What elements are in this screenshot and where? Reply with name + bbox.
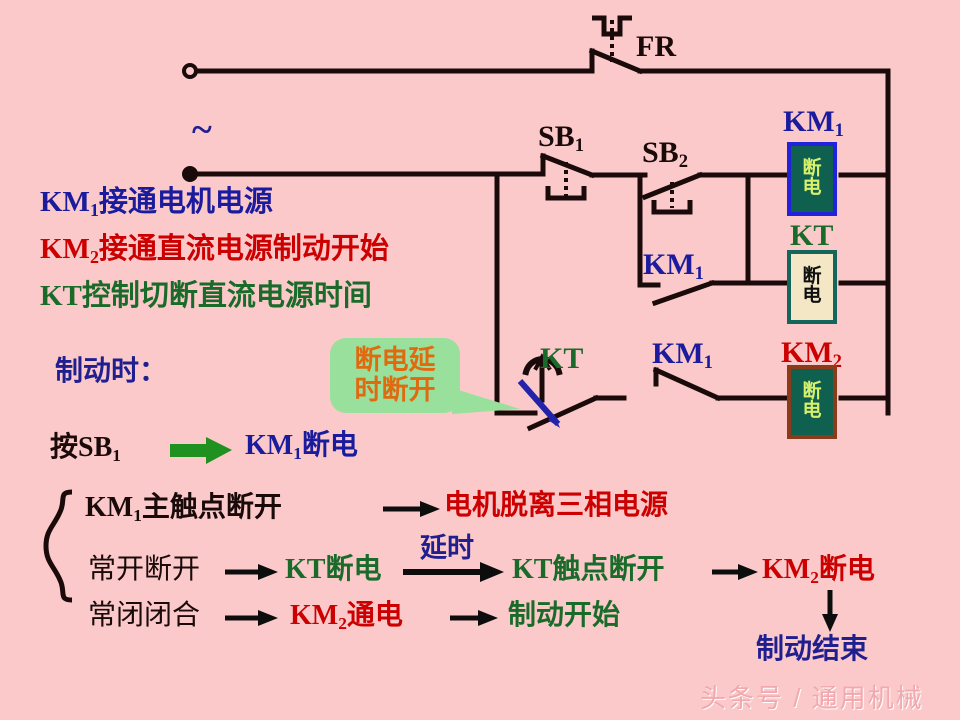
callout-line2: 时断开	[340, 375, 450, 405]
coil-km2-char2: 电	[802, 402, 821, 421]
label-sb2: SB2	[642, 138, 688, 172]
label-km1-holding: KM1	[643, 250, 704, 284]
sequence-row3-mid: KM2通电	[290, 602, 403, 632]
sequence-row2-tail: KM2断电	[762, 556, 875, 586]
green-flow-arrow	[170, 437, 232, 464]
label-km1-nc-contact: KM1	[652, 339, 713, 373]
coil-km1-char2: 电	[802, 179, 821, 198]
sequence-delay-label: 延时	[420, 535, 474, 562]
label-km1-coil: KM1	[783, 107, 844, 141]
label-kt-contact: KT	[540, 344, 583, 374]
sequence-row2-right: KT触点断开	[512, 556, 664, 584]
sequence-brace	[46, 492, 72, 600]
km1-nc-contact-blade	[656, 370, 718, 398]
km1-holding-contact-blade	[655, 283, 712, 303]
legend-line-1: KM1接通电机电源	[40, 188, 273, 219]
coil-box-km2: 断电	[787, 365, 837, 439]
coil-kt-char2: 电	[802, 287, 821, 306]
callout-tail	[452, 388, 520, 414]
sequence-row3-right: 制动开始	[508, 602, 620, 630]
sequence-line1-right: KM1断电	[245, 432, 358, 462]
sequence-row1-left: KM1主触点断开	[85, 494, 282, 524]
coil-box-kt: 断电	[787, 250, 837, 324]
sequence-row1-right: 电机脱离三相电源	[444, 492, 668, 520]
sequence-row2-mid: KT断电	[285, 556, 381, 584]
flow-arrow-row2b	[712, 564, 758, 580]
legend-line-2: KM2接通直流电源制动开始	[40, 235, 389, 266]
coil-box-km1: 断电	[787, 142, 837, 216]
label-kt-coil: KT	[790, 221, 833, 251]
callout-line1: 断电延	[340, 345, 450, 375]
label-fr: FR	[636, 32, 676, 62]
sequence-line1-left: 按SB1	[50, 434, 121, 464]
legend-line-3: KT控制切断直流电源时间	[40, 282, 372, 311]
sequence-row2-left: 常开断开	[88, 556, 200, 584]
watermark: 头条号 / 通用机械	[700, 678, 924, 715]
flow-arrow-row3a	[225, 610, 278, 626]
label-sb1: SB1	[538, 122, 584, 156]
callout-delay-open: 断电延 时断开	[330, 338, 460, 413]
slide-canvas: FR SB1 SB2 KM1 KM1 KT KM2 KT KM1 ~ 断电 断电…	[0, 0, 960, 720]
flow-arrow-row2a	[225, 564, 278, 580]
flow-arrow-row1	[383, 501, 440, 517]
sequence-row3-left: 常闭闭合	[88, 602, 200, 630]
fr-contact-blade	[592, 51, 640, 71]
ac-supply-symbol: ~	[192, 108, 212, 152]
sequence-final: 制动结束	[756, 636, 868, 664]
flow-arrow-delay	[403, 562, 504, 582]
flow-arrow-down	[822, 590, 838, 632]
sequence-heading: 制动时：	[55, 358, 167, 386]
flow-arrow-row3b	[450, 610, 498, 626]
